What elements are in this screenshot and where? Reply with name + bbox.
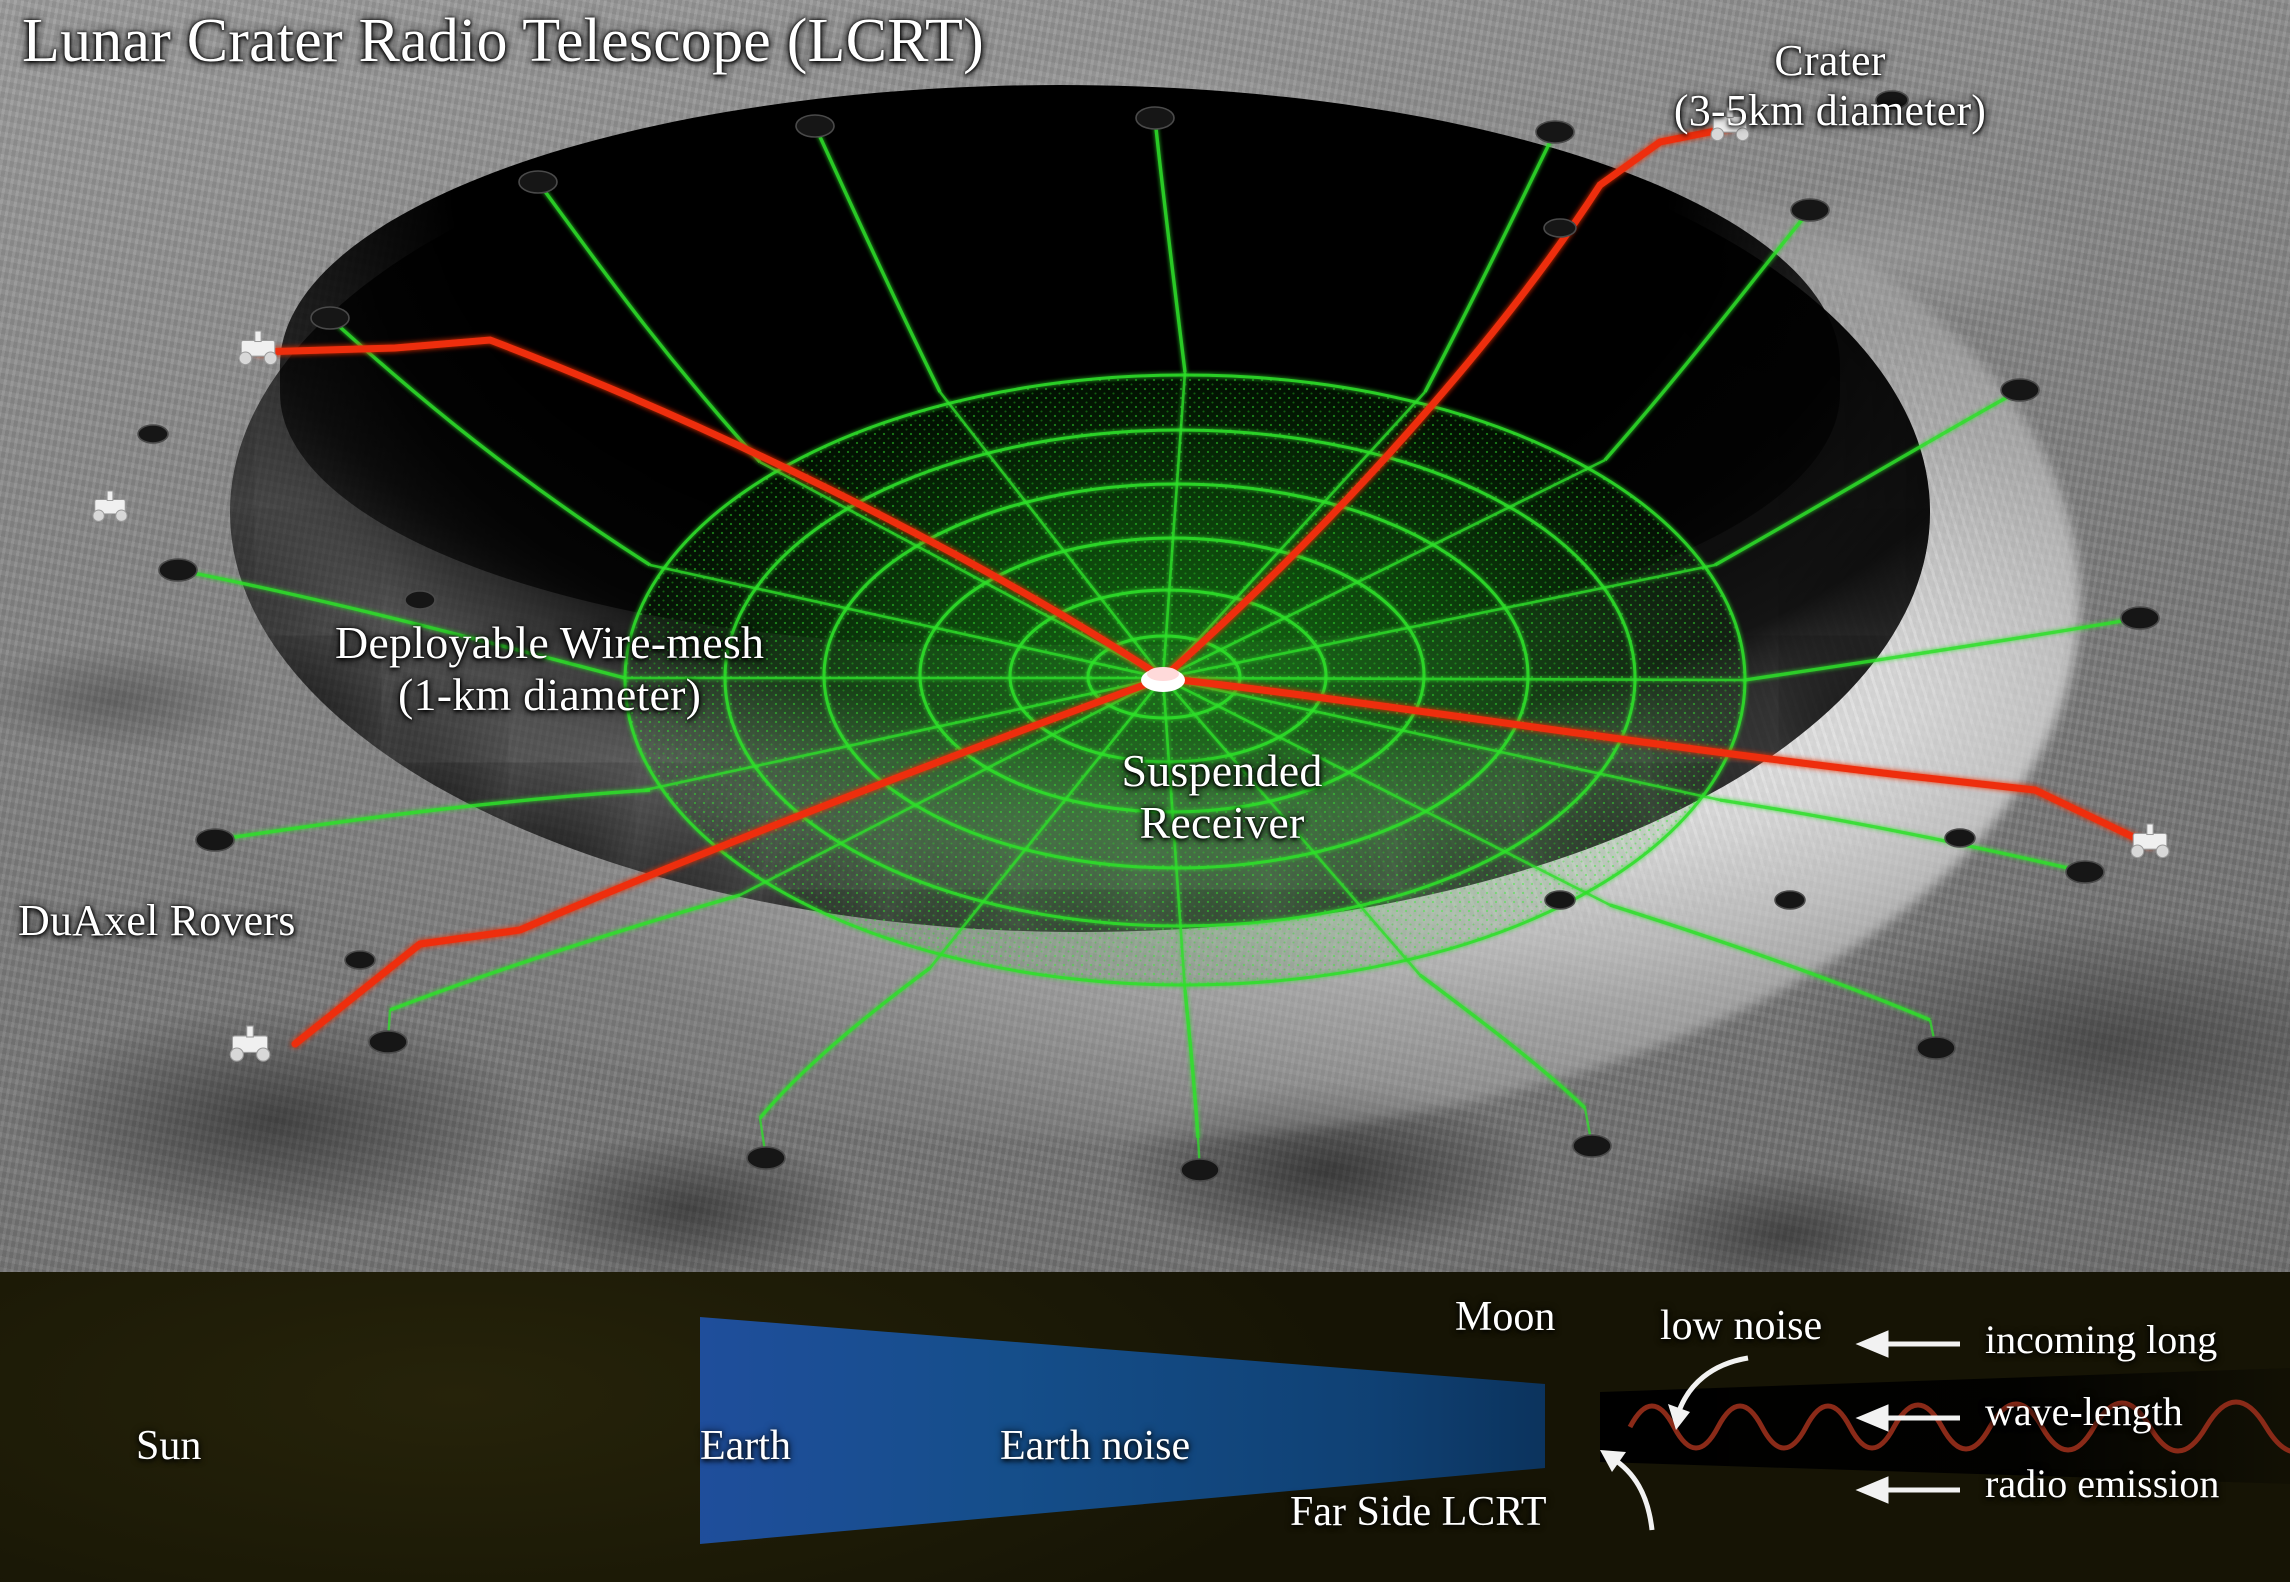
label-radio-emission: radio emission (1985, 1460, 2219, 1507)
legend-arrow-1 (1862, 1334, 1960, 1354)
lcrt-illustration: Lunar Crater Radio Telescope (LCRT) Crat… (0, 0, 2290, 1582)
annotation-wire-mesh-line2: (1-km diameter) (335, 669, 764, 721)
annotation-wire-mesh-line1: Deployable Wire-mesh (335, 617, 764, 668)
label-sun: Sun (136, 1422, 201, 1470)
annotation-crater-line1: Crater (1774, 36, 1885, 85)
annotation-wire-mesh: Deployable Wire-mesh(1-km diameter) (335, 617, 764, 721)
far-side-lcrt-pointer-line (1612, 1458, 1652, 1530)
label-earth: Earth (700, 1422, 791, 1470)
label-low-noise: low noise (1660, 1302, 1822, 1350)
label-incoming-long: incoming long (1985, 1316, 2217, 1363)
legend-arrows (1862, 1334, 1960, 1500)
annotation-crater-line2: (3-5km diameter) (1674, 86, 1986, 135)
legend-arrow-3 (1862, 1480, 1960, 1500)
label-earth-noise: Earth noise (1000, 1422, 1190, 1470)
page-title: Lunar Crater Radio Telescope (LCRT) (22, 6, 984, 76)
annotation-crater: Crater(3-5km diameter) (1674, 36, 1986, 135)
label-wave-length: wave-length (1985, 1388, 2183, 1435)
anchor-drop-lines (388, 1010, 1936, 1170)
annotation-suspended-receiver: SuspendedReceiver (1121, 745, 1322, 849)
annotation-duaxel-rovers: DuAxel Rovers (18, 896, 296, 946)
label-far-side-lcrt: Far Side LCRT (1290, 1488, 1546, 1536)
annotation-receiver-line2: Receiver (1139, 797, 1304, 848)
label-moon: Moon (1455, 1293, 1555, 1341)
annotation-receiver-line1: Suspended (1121, 745, 1322, 796)
crater-scene-panel: Lunar Crater Radio Telescope (LCRT) Crat… (0, 0, 2290, 1272)
